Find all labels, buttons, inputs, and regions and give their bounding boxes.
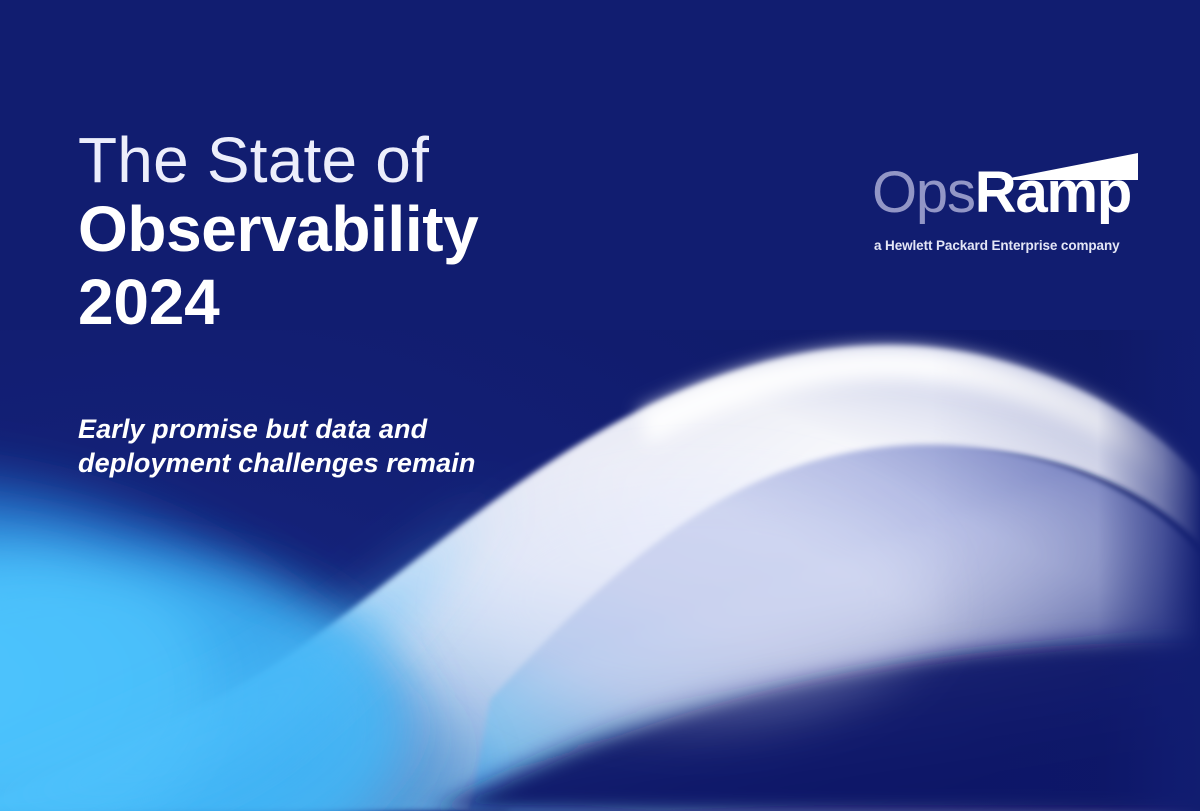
cover-page: The State of Observability 2024 Early pr… [0, 0, 1200, 811]
subtitle-line-2: deployment challenges remain [78, 446, 475, 480]
logo-text-ops: Ops [872, 160, 975, 225]
cover-content: The State of Observability 2024 Early pr… [0, 0, 1200, 811]
title-line-observability: Observability [78, 193, 478, 265]
subtitle-line-1: Early promise but data and [78, 412, 475, 446]
opsramp-logo: OpsRamp a Hewlett Packard Enterprise com… [872, 150, 1140, 220]
subtitle: Early promise but data and deployment ch… [78, 412, 475, 480]
logo-text: OpsRamp [872, 164, 1131, 222]
logo-wordmark: OpsRamp [872, 150, 1140, 220]
logo-text-ramp: Ramp [975, 160, 1131, 225]
title-line-year: 2024 [78, 266, 478, 338]
logo-tagline: a Hewlett Packard Enterprise company [874, 238, 1120, 253]
page-title: The State of Observability 2024 [78, 128, 478, 338]
title-line-the-state-of: The State of [78, 128, 478, 193]
